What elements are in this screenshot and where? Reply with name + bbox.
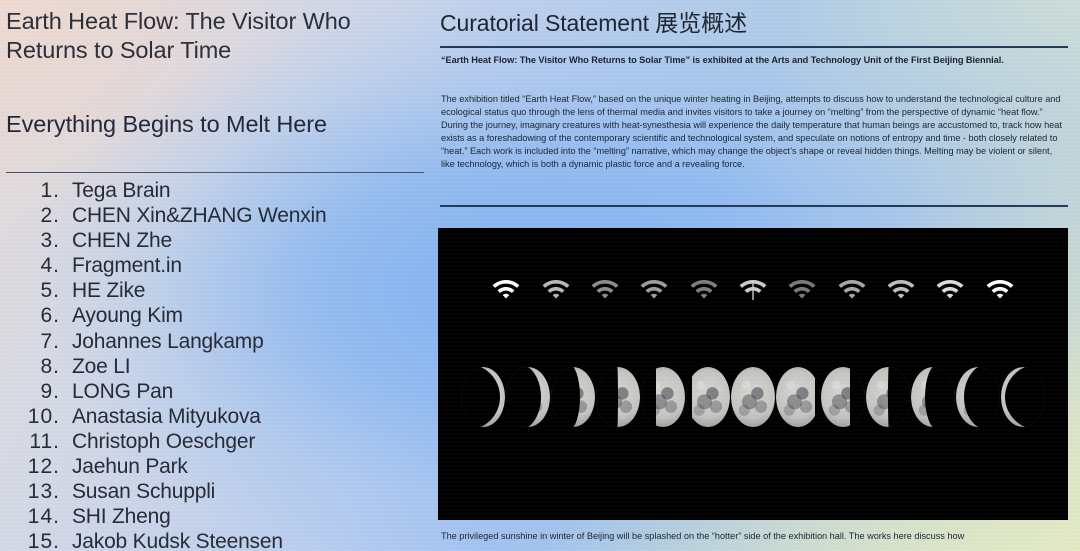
right-column: Curatorial Statement 展览概述 “Earth Heat Fl… (438, 0, 1080, 551)
wifi-icon (837, 277, 867, 302)
artist-list-item: 14.SHI Zheng (6, 504, 430, 529)
statement-body: The exhibition titled “Earth Heat Flow,”… (441, 93, 1065, 172)
artist-index: 1. (6, 178, 60, 203)
left-divider (6, 172, 424, 173)
artist-index: 3. (6, 228, 60, 253)
heading-chinese: 展览概述 (655, 11, 747, 37)
artist-list-item: 10.Anastasia Mityukova (6, 404, 430, 429)
artist-list-item: 12.Jaehun Park (6, 454, 430, 479)
moon-phase-waxing-crescent (506, 366, 550, 428)
artist-list-item: 15.Jakob Kudsk Steensen (6, 529, 430, 551)
artist-name: Tega Brain (60, 178, 170, 203)
artist-index: 9. (6, 379, 60, 404)
moon-phase-waxing-gibbous (686, 366, 730, 428)
artist-name: Johannes Langkamp (60, 329, 264, 354)
artist-list-item: 4.Fragment.in (6, 253, 430, 278)
artist-name: Jaehun Park (60, 454, 188, 479)
artist-name: Jakob Kudsk Steensen (60, 529, 283, 551)
artwork-divider (440, 205, 1068, 207)
statement-lede: “Earth Heat Flow: The Visitor Who Return… (441, 54, 1049, 66)
wifi-icon-row (438, 266, 1068, 312)
artist-index: 5. (6, 278, 60, 303)
artist-list: 1.Tega Brain2.CHEN Xin&ZHANG Wenxin3.CHE… (6, 178, 430, 551)
artist-name: Fragment.in (60, 253, 182, 278)
artist-index: 11. (6, 429, 60, 454)
section-title: Everything Begins to Melt Here (6, 110, 416, 139)
artist-name: Susan Schuppli (60, 479, 215, 504)
moon-phase-waning-gibbous-late (821, 366, 865, 428)
moon-phase-waxing-crescent-wide (551, 366, 595, 428)
wifi-icon (689, 277, 719, 302)
artist-list-item: 8.Zoe LI (6, 354, 430, 379)
wifi-icon (541, 277, 571, 302)
moon-phase-waxing-crescent-thin (461, 366, 505, 428)
artwork-caption: The privileged sunshine in winter of Bei… (441, 530, 1069, 543)
moon-phase-first-quarter (596, 366, 640, 428)
artist-list-item: 9.LONG Pan (6, 379, 430, 404)
artist-index: 2. (6, 203, 60, 228)
artist-index: 13. (6, 479, 60, 504)
artist-name: CHEN Zhe (60, 228, 172, 253)
moon-phase-waxing-gibbous-early (641, 366, 685, 428)
wifi-icon (886, 277, 916, 302)
artist-index: 10. (6, 404, 60, 429)
artist-index: 8. (6, 354, 60, 379)
moon-phase-waning-crescent-wide (911, 366, 955, 428)
artist-name: Zoe LI (60, 354, 130, 379)
wifi-icon (935, 277, 965, 302)
artist-name: LONG Pan (60, 379, 173, 404)
artist-index: 12. (6, 454, 60, 479)
artist-name: SHI Zheng (60, 504, 171, 529)
moon-phase-waning-crescent (956, 366, 1000, 428)
artist-index: 4. (6, 253, 60, 278)
wifi-icon (491, 277, 521, 302)
curatorial-statement-heading: Curatorial Statement 展览概述 (440, 9, 747, 38)
artist-name: Christoph Oeschger (60, 429, 255, 454)
artist-list-item: 11.Christoph Oeschger (6, 429, 430, 454)
artist-list-item: 2.CHEN Xin&ZHANG Wenxin (6, 203, 430, 228)
moon-phase-full-moon (731, 366, 775, 428)
heading-divider (440, 46, 1068, 48)
artist-index: 6. (6, 303, 60, 328)
moon-phase-waning-gibbous (776, 366, 820, 428)
artist-name: HE Zike (60, 278, 145, 303)
artwork-image (438, 228, 1068, 520)
artist-list-item: 3.CHEN Zhe (6, 228, 430, 253)
wifi-icon-searching (738, 277, 768, 302)
wifi-icon (590, 277, 620, 302)
artist-index: 14. (6, 504, 60, 529)
artist-list-item: 6.Ayoung Kim (6, 303, 430, 328)
heading-english: Curatorial Statement (440, 10, 655, 36)
artist-index: 7. (6, 329, 60, 354)
artist-list-item: 13.Susan Schuppli (6, 479, 430, 504)
artist-name: CHEN Xin&ZHANG Wenxin (60, 203, 326, 228)
artist-list-item: 5.HE Zike (6, 278, 430, 303)
exhibition-title: Earth Heat Flow: The Visitor Who Returns… (6, 7, 416, 65)
moon-phase-waning-crescent-thin (1001, 366, 1045, 428)
artist-index: 15. (6, 529, 60, 551)
artist-name: Ayoung Kim (60, 303, 183, 328)
artist-list-item: 7.Johannes Langkamp (6, 329, 430, 354)
wifi-icon (639, 277, 669, 302)
wifi-icon (787, 277, 817, 302)
wifi-icon (985, 277, 1015, 302)
artist-name: Anastasia Mityukova (60, 404, 261, 429)
artist-list-item: 1.Tega Brain (6, 178, 430, 203)
moon-phase-row (438, 361, 1068, 433)
moon-phase-last-quarter (866, 366, 910, 428)
